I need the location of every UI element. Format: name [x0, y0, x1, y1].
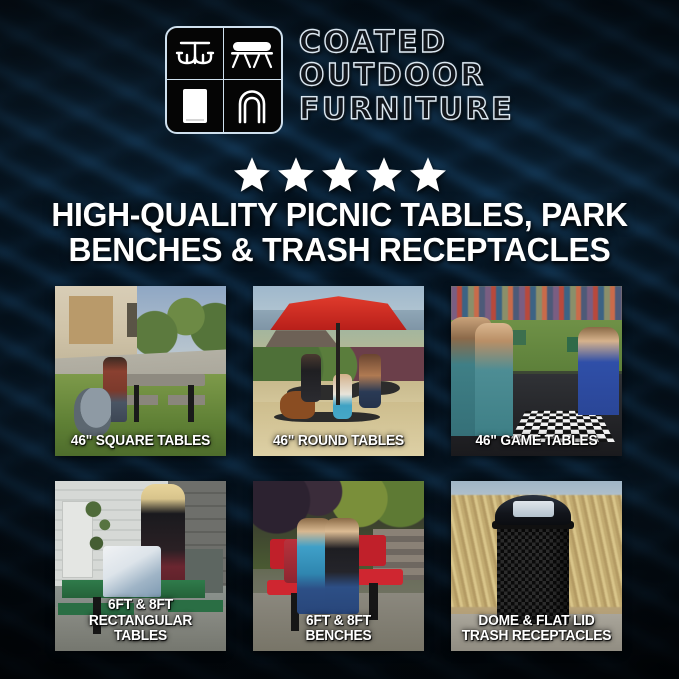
product-caption: 46" SQUARE TABLES	[61, 434, 220, 450]
star-icon	[278, 157, 314, 192]
caption-line-1: 6FT & 8FT	[108, 597, 173, 613]
game-table-photo	[451, 286, 622, 456]
caption-line-1: DOME & FLAT LID	[478, 613, 594, 629]
wordmark-line-3: FURNITURE	[299, 94, 514, 126]
product-card-square-tables[interactable]: 46" SQUARE TABLES	[55, 286, 226, 456]
product-card-rectangular-tables[interactable]: 6FT & 8FT RECTANGULAR TABLES	[55, 481, 226, 651]
brand-logo: COATED OUTDOOR FURNITURE	[0, 26, 679, 134]
product-caption: 46" ROUND TABLES	[259, 434, 418, 450]
product-caption: 6FT & 8FT BENCHES	[259, 614, 418, 645]
star-icon	[366, 157, 402, 192]
caption-line-2: RECTANGULAR TABLES	[61, 614, 220, 645]
bench-table-icon	[224, 28, 281, 80]
promo-banner: COATED OUTDOOR FURNITURE HIGH-QUALITY PI…	[0, 0, 679, 679]
product-card-benches[interactable]: 6FT & 8FT BENCHES	[253, 481, 424, 651]
page-title: HIGH-QUALITY PICNIC TABLES, PARK BENCHES…	[30, 198, 649, 268]
square-table-photo	[55, 286, 226, 456]
wordmark-line-2: OUTDOOR	[299, 60, 514, 92]
bike-rack-icon	[224, 80, 281, 132]
star-rating	[0, 157, 679, 192]
star-icon	[322, 157, 358, 192]
product-grid: 46" SQUARE TABLES 46" ROUND TABLES	[55, 286, 625, 651]
picnic-table-icon	[167, 28, 224, 80]
caption-line-1: 46" GAME TABLES	[475, 433, 597, 449]
headline-line-2: BENCHES & TRASH RECEPTACLES	[41, 233, 638, 268]
trash-receptacle-icon	[167, 80, 224, 132]
product-caption: DOME & FLAT LID TRASH RECEPTACLES	[457, 614, 616, 645]
star-icon	[234, 157, 270, 192]
product-card-trash-receptacles[interactable]: DOME & FLAT LID TRASH RECEPTACLES	[451, 481, 622, 651]
caption-line-1: 6FT & 8FT	[306, 613, 371, 629]
banner-content: COATED OUTDOOR FURNITURE HIGH-QUALITY PI…	[0, 0, 679, 679]
star-icon	[410, 157, 446, 192]
brand-wordmark: COATED OUTDOOR FURNITURE	[299, 26, 514, 126]
product-card-round-tables[interactable]: 46" ROUND TABLES	[253, 286, 424, 456]
caption-line-1: 46" SQUARE TABLES	[71, 433, 210, 449]
caption-line-1: 46" ROUND TABLES	[273, 433, 404, 449]
caption-line-2: TRASH RECEPTACLES	[457, 629, 616, 645]
round-table-photo	[253, 286, 424, 456]
headline-line-1: HIGH-QUALITY PICNIC TABLES, PARK	[41, 198, 638, 233]
caption-line-2: BENCHES	[259, 629, 418, 645]
product-caption: 6FT & 8FT RECTANGULAR TABLES	[61, 598, 220, 645]
product-card-game-tables[interactable]: 46" GAME TABLES	[451, 286, 622, 456]
logo-mark-grid	[165, 26, 283, 134]
wordmark-line-1: COATED	[299, 27, 514, 59]
product-caption: 46" GAME TABLES	[457, 434, 616, 450]
